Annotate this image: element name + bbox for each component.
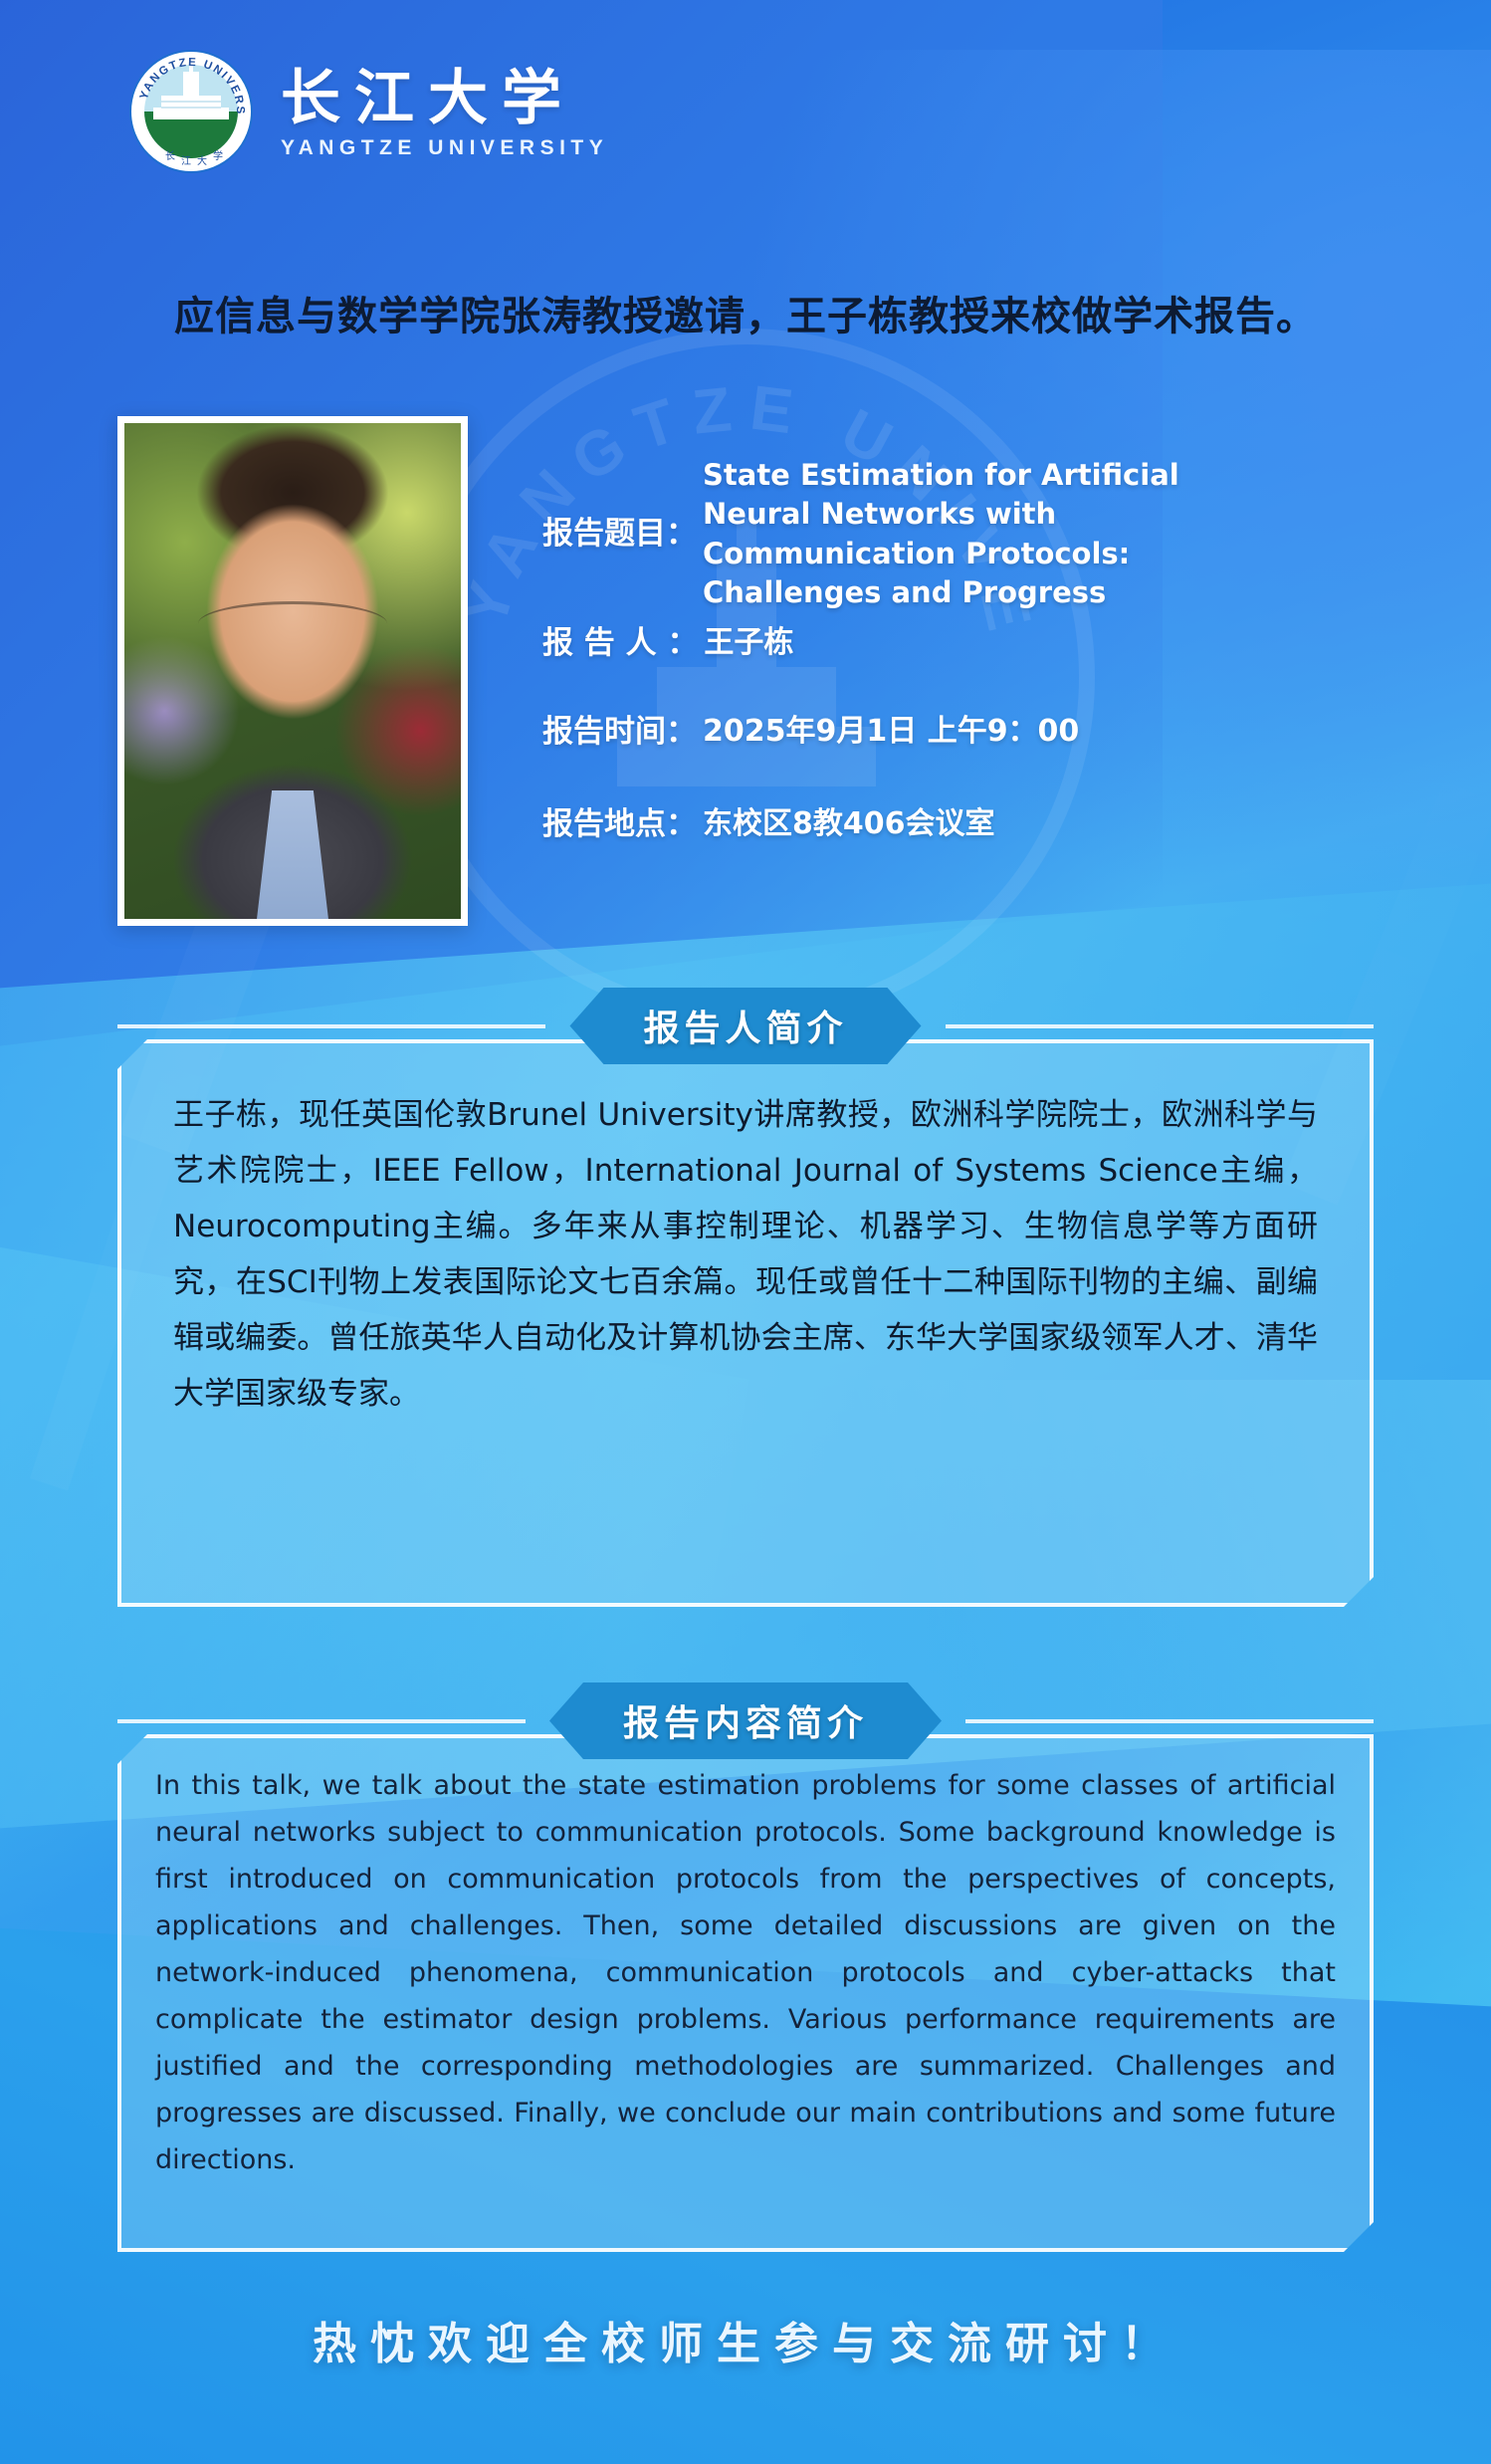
bio-card: 王子栋，现任英国伦敦Brunel University讲席教授，欧洲科学院院士，… <box>117 1039 1374 1607</box>
bio-badge-rule-left <box>117 1024 545 1028</box>
speaker-label: 报 告 人 ： <box>542 623 698 664</box>
speaker-photo <box>117 416 468 926</box>
brand-name-cn: 长江大学 <box>281 68 608 130</box>
place-value: 东校区8教406会议室 <box>703 804 995 845</box>
bio-badge-rule-right <box>946 1024 1374 1028</box>
svg-text:学: 学 <box>213 149 223 162</box>
svg-text:大: 大 <box>197 154 207 167</box>
brand-lockup: 长江大学 YANGTZE UNIVERSITY <box>281 68 608 160</box>
poster-headline: 应信息与数学学院张涛教授邀请，王子栋教授来校做学术报告。 <box>0 284 1491 341</box>
abstract-text: In this talk, we talk about the state es… <box>121 1738 1370 2183</box>
university-seal-icon: YANGTZE UNIVERSITY 长江 大学 <box>127 48 255 175</box>
abstract-badge-rule-left <box>117 1719 526 1723</box>
lecture-info-block: 报告题目： State Estimation for Artificial Ne… <box>542 456 1438 854</box>
speaker-portrait-image <box>124 423 461 919</box>
title-value: State Estimation for Artificial Neural N… <box>703 456 1200 613</box>
abstract-badge-rule-right <box>965 1719 1374 1723</box>
time-label: 报告时间： <box>542 712 697 753</box>
portrait-shirt <box>246 790 340 919</box>
info-row-speaker: 报 告 人 ： 王子栋 <box>542 623 1438 664</box>
svg-text:江: 江 <box>181 155 191 167</box>
abstract-card: In this talk, we talk about the state es… <box>117 1734 1374 2252</box>
speaker-value: 王子栋 <box>704 623 793 664</box>
place-label: 报告地点： <box>542 804 697 845</box>
svg-text:长: 长 <box>165 150 175 162</box>
poster-footer: 热忱欢迎全校师生参与交流研讨！ <box>0 2308 1491 2371</box>
info-row-title: 报告题目： State Estimation for Artificial Ne… <box>542 456 1438 613</box>
time-value: 2025年9月1日 上午9：00 <box>703 712 1079 753</box>
bio-section-badge: 报告人简介 <box>569 988 921 1064</box>
poster-canvas: YANGTZE UNIVERSITY <box>0 0 1491 2464</box>
info-row-time: 报告时间： 2025年9月1日 上午9：00 <box>542 712 1438 753</box>
abstract-section-badge: 报告内容简介 <box>549 1682 942 1759</box>
bio-text: 王子栋，现任英国伦敦Brunel University讲席教授，欧洲科学院院士，… <box>121 1043 1370 1422</box>
portrait-glasses <box>198 601 386 646</box>
brand-name-en: YANGTZE UNIVERSITY <box>281 136 608 160</box>
poster-header: YANGTZE UNIVERSITY 长江 大学 长江大学 YANGTZE UN… <box>0 48 1491 175</box>
title-label: 报告题目： <box>542 514 697 555</box>
info-row-place: 报告地点： 东校区8教406会议室 <box>542 804 1438 845</box>
